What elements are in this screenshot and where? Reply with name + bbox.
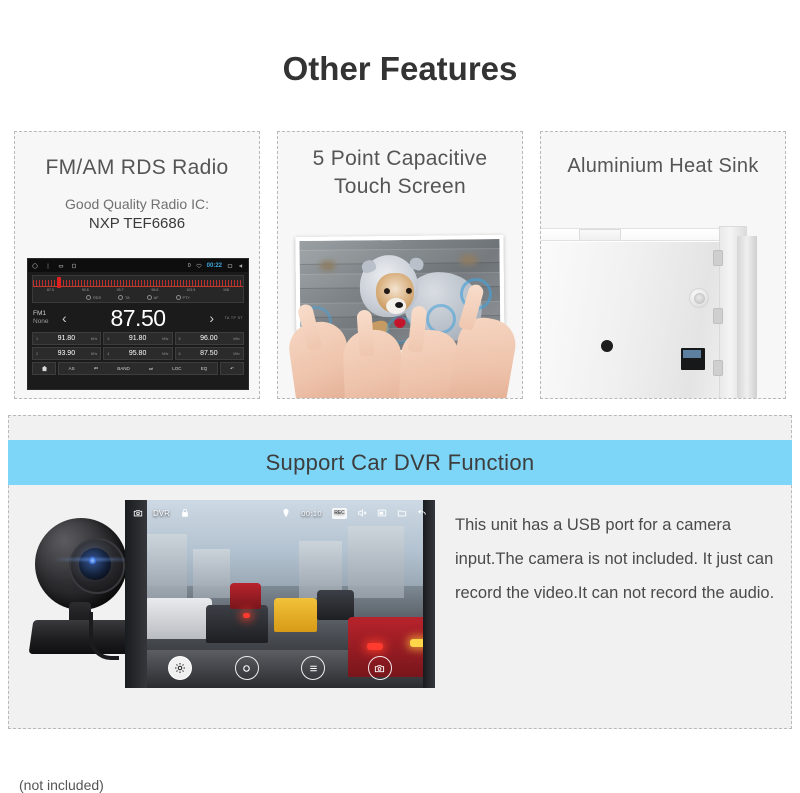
radio-band-info: FM1 None <box>33 310 59 326</box>
record-circle-icon[interactable] <box>235 656 259 680</box>
band-label: FM1 <box>33 310 59 318</box>
dvr-top-overlay: DVR 00:10 REC <box>125 500 435 526</box>
radio-dot-icon <box>176 295 181 300</box>
radio-preset-list: 1 91.80 MHz 3 91.80 MHz 5 96.00 MHz <box>32 332 244 360</box>
dvr-label: DVR <box>153 509 170 518</box>
chassis-connector-slot <box>681 348 705 370</box>
lock-icon[interactable] <box>180 508 190 518</box>
tail-light <box>243 613 250 618</box>
option-af[interactable]: AF <box>147 295 159 300</box>
next-button[interactable]: ⏭ <box>149 366 153 371</box>
preset-unit: MHz <box>233 352 240 356</box>
sd-card-icon <box>71 263 77 269</box>
taxi-car <box>274 598 317 632</box>
home-button[interactable] <box>32 362 56 375</box>
dvr-description: This unit has a USB port for a camera in… <box>455 508 785 610</box>
chassis-port-hole <box>601 340 613 352</box>
scale-label: 90.6 <box>82 288 89 292</box>
option-label: PTY <box>183 296 190 300</box>
window-icon[interactable] <box>377 508 387 518</box>
as-button[interactable]: AS <box>69 366 75 371</box>
preset-frequency: 95.80 <box>113 350 162 357</box>
page-root: Other Features FM/AM RDS Radio Good Qual… <box>0 0 800 775</box>
gear-glyph <box>174 662 186 674</box>
dvr-bottom-overlay <box>125 656 435 680</box>
touchscreen-title-line1: 5 Point Capacitive <box>278 145 522 173</box>
page-title: Other Features <box>0 50 800 88</box>
pin-icon[interactable] <box>281 508 291 518</box>
preset-unit: MHz <box>162 352 169 356</box>
station-name: None <box>33 318 59 326</box>
radio-ic-label: Good Quality Radio IC: <box>15 195 259 214</box>
feature-cards: FM/AM RDS Radio Good Quality Radio IC: N… <box>14 131 786 401</box>
heatsink-vent <box>713 308 723 324</box>
dvr-video-preview: DVR 00:10 REC <box>125 500 435 688</box>
card-title-touchscreen: 5 Point Capacitive Touch Screen <box>278 145 522 201</box>
preset-unit: MHz <box>233 337 240 341</box>
option-rds[interactable]: RDS <box>86 295 101 300</box>
prev-button[interactable]: ⏮ <box>94 366 98 371</box>
car <box>206 605 268 643</box>
preset-button[interactable]: 2 93.90 MHz <box>32 347 101 360</box>
next-station-button[interactable]: › <box>206 310 217 326</box>
radio-option-toggles: RDS TA AF PTY <box>33 295 243 300</box>
radio-head-unit-screen: 0 00:22 87.5 90.6 93.7 96.8 <box>27 258 249 390</box>
option-label: AF <box>154 296 159 300</box>
home-icon <box>41 365 48 372</box>
rec-button[interactable]: REC <box>332 508 347 519</box>
radio-dot-icon <box>147 295 152 300</box>
preset-frequency: 91.80 <box>42 335 91 342</box>
dvr-banner-title: Support Car DVR Function <box>266 450 535 476</box>
radio-function-bar: AS ⏮ BAND ⏭ LOC EQ <box>58 362 218 375</box>
radio-ic-chip: NXP TEF6686 <box>15 214 259 233</box>
radio-dot-icon <box>86 295 91 300</box>
photo-capture-icon[interactable] <box>368 656 392 680</box>
dvr-banner: Support Car DVR Function <box>8 440 792 485</box>
dvr-timestamp: 00:10 <box>301 509 322 518</box>
preset-frequency: 96.00 <box>185 335 234 342</box>
heart-icon <box>196 263 202 269</box>
current-frequency: 87.50 <box>70 306 207 330</box>
lens-glint <box>88 556 97 565</box>
prev-station-button[interactable]: ‹ <box>59 310 70 326</box>
menu-dots-icon <box>45 263 51 269</box>
scale-label: 96.8 <box>151 288 158 292</box>
card-title-heatsink: Aluminium Heat Sink <box>541 152 785 180</box>
preset-unit: MHz <box>91 337 98 341</box>
option-ta[interactable]: TA <box>118 295 130 300</box>
battery-level: 0 <box>188 263 191 269</box>
card-title-radio: FM/AM RDS Radio <box>15 154 259 182</box>
dvr-body: DVR 00:10 REC <box>9 488 793 728</box>
building <box>348 526 404 597</box>
preset-frequency: 91.80 <box>113 335 162 342</box>
option-label: TA <box>125 296 130 300</box>
band-button[interactable]: BAND <box>117 366 130 371</box>
pointing-finger <box>356 310 374 357</box>
radio-status-bar: 0 00:22 <box>28 259 248 272</box>
screen-icon <box>227 263 233 269</box>
back-icon[interactable] <box>417 508 427 518</box>
settings-gear-icon[interactable] <box>168 656 192 680</box>
folder-icon[interactable] <box>397 508 407 518</box>
volume-icon <box>238 263 244 269</box>
power-icon <box>32 263 38 269</box>
leaf-blur <box>320 260 336 270</box>
eq-button[interactable]: EQ <box>201 366 208 371</box>
dvr-section: Support Car DVR Function <box>8 415 792 729</box>
scale-label: 87.5 <box>47 288 54 292</box>
touchscreen-title-line2: Touch Screen <box>278 173 522 201</box>
option-label: RDS <box>93 296 101 300</box>
car <box>230 583 261 609</box>
feature-card-heatsink: Aluminium Heat Sink <box>540 131 786 399</box>
loc-button[interactable]: LOC <box>172 366 181 371</box>
preset-button[interactable]: 6 87.50 MHz <box>175 347 244 360</box>
heatsink-photo <box>541 220 785 398</box>
radio-indicators: TA TP ST <box>217 316 243 320</box>
status-clock: 00:22 <box>207 263 222 269</box>
dog-nose <box>395 302 403 308</box>
preset-frequency: 87.50 <box>185 350 234 357</box>
heatsink-edge <box>737 236 757 398</box>
status-right-icons: 0 00:22 <box>188 263 244 269</box>
heatsink-vent <box>713 360 723 376</box>
scale-label: 103.9 <box>186 288 195 292</box>
radio-dot-icon <box>118 295 123 300</box>
usb-icon <box>58 263 64 269</box>
building <box>193 549 230 598</box>
car <box>317 590 354 620</box>
card-subtitle-radio: Good Quality Radio IC: NXP TEF6686 <box>15 195 259 233</box>
preset-button[interactable]: 5 96.00 MHz <box>175 332 244 345</box>
dashcam-photo <box>17 516 137 666</box>
option-pty[interactable]: PTY <box>176 295 190 300</box>
back-button[interactable]: ↶ <box>220 362 244 375</box>
scale-label: 108 <box>223 288 229 292</box>
capture-glyph <box>374 663 385 674</box>
chassis-screw <box>689 288 709 308</box>
preset-unit: MHz <box>91 352 98 356</box>
car <box>137 598 211 639</box>
scale-baseline <box>33 286 243 287</box>
preset-unit: MHz <box>162 337 169 341</box>
preset-button[interactable]: 3 91.80 MHz <box>103 332 172 345</box>
scale-cursor[interactable] <box>57 277 61 288</box>
list-glyph <box>308 663 319 674</box>
preset-frequency: 93.90 <box>42 350 91 357</box>
tail-light <box>367 643 383 650</box>
preset-button[interactable]: 4 95.80 MHz <box>103 347 172 360</box>
playlist-icon[interactable] <box>301 656 325 680</box>
leaf-blur <box>460 255 478 266</box>
touchscreen-illustration <box>278 230 522 398</box>
camera-icon[interactable] <box>133 508 143 518</box>
record-glyph <box>241 663 252 674</box>
radio-frequency-scale[interactable]: 87.5 90.6 93.7 96.8 103.9 108 RDS TA AF … <box>32 275 244 303</box>
feature-card-touchscreen: 5 Point Capacitive Touch Screen <box>277 131 523 399</box>
scale-label: 93.7 <box>117 288 124 292</box>
camera-not-included-caption: (not included) <box>19 777 104 793</box>
heatsink-vent <box>713 250 723 266</box>
feature-card-radio: FM/AM RDS Radio Good Quality Radio IC: N… <box>14 131 260 399</box>
scale-labels: 87.5 90.6 93.7 96.8 103.9 108 <box>33 288 243 292</box>
preset-button[interactable]: 1 91.80 MHz <box>32 332 101 345</box>
status-left-icons <box>32 263 77 269</box>
mute-icon[interactable] <box>357 508 367 518</box>
radio-bottom-toolbar: AS ⏮ BAND ⏭ LOC EQ ↶ <box>32 362 244 375</box>
radio-frequency-row: FM1 None ‹ 87.50 › TA TP ST <box>33 305 243 331</box>
